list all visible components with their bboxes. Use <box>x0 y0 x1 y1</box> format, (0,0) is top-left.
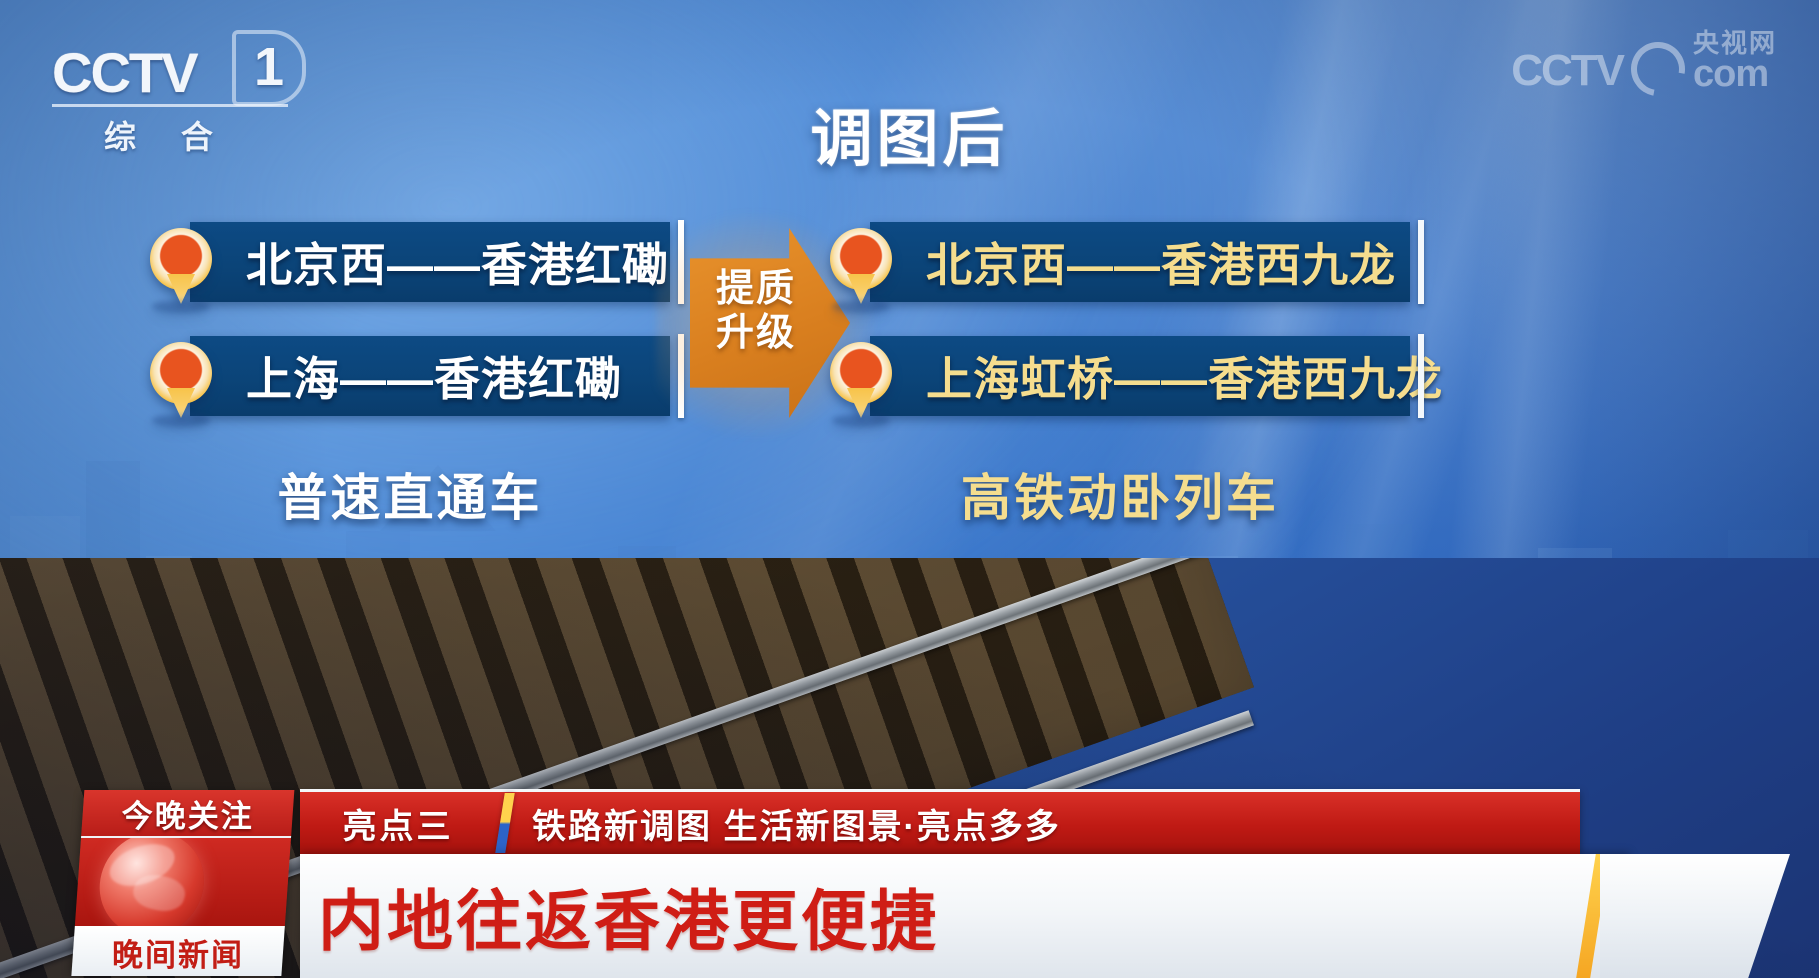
watermark-cctv-text: CCTV <box>1511 50 1623 92</box>
broadcast-screen: CCTV 1 综 合 CCTV 央视网 com 调图后 北京西——香港红磡 <box>0 0 1819 978</box>
globe-icon <box>96 838 207 926</box>
infographic-title: 调图后 <box>0 88 1819 178</box>
map-pin-icon <box>830 228 892 304</box>
program-bottom-label: 晚间新闻 <box>112 930 244 975</box>
arrow-label-line2: 升级 <box>696 312 816 356</box>
before-caption: 普速直通车 <box>150 458 670 530</box>
route-bar-end-cap <box>1418 334 1424 418</box>
before-column: 北京西——香港红磡 上海——香港红磡 普速直通车 <box>150 222 670 450</box>
map-pin-icon <box>830 342 892 418</box>
route-bar-end-cap <box>1418 220 1424 304</box>
program-logo: 今晚关注 晚间新闻 <box>72 790 295 972</box>
cctv-com-watermark: CCTV 央视网 com <box>1511 30 1777 92</box>
subtitle-text: 铁路新调图 生活新图景·亮点多多 <box>532 799 1061 848</box>
kicker-label: 亮点三 <box>300 799 496 848</box>
headline-band-tail <box>1600 854 1790 978</box>
route-label: 上海——香港红磡 <box>246 343 622 409</box>
lower-third: 今晚关注 晚间新闻 亮点三 铁路新调图 生活新图景·亮点多多 内地往返香港更便捷 <box>0 678 1819 978</box>
band-separator-icon <box>495 793 515 853</box>
map-pin-icon <box>150 342 212 418</box>
route-label: 北京西——香港西九龙 <box>926 229 1396 295</box>
route-bar: 上海——香港红磡 <box>190 336 670 416</box>
route-bar: 北京西——香港西九龙 <box>870 222 1410 302</box>
program-logo-top: 今晚关注 <box>81 790 294 838</box>
route-bar: 上海虹桥——香港西九龙 <box>870 336 1410 416</box>
route-row: 北京西——香港西九龙 <box>830 222 1410 310</box>
map-pin-icon <box>150 228 212 304</box>
headline-text: 内地往返香港更便捷 <box>318 868 939 964</box>
route-row: 上海虹桥——香港西九龙 <box>830 336 1410 424</box>
program-logo-globe-panel <box>75 838 291 926</box>
watermark-com-text: com <box>1693 56 1768 92</box>
headline-band: 内地往返香港更便捷 <box>300 854 1630 978</box>
subtitle-band: 亮点三 铁路新调图 生活新图景·亮点多多 <box>300 789 1580 854</box>
route-row: 北京西——香港红磡 <box>150 222 670 310</box>
after-column: 北京西——香港西九龙 上海虹桥——香港西九龙 高铁动卧列车 <box>830 222 1410 450</box>
arrow-label-line1: 提质 <box>696 268 816 312</box>
program-top-label: 今晚关注 <box>122 791 254 836</box>
after-caption: 高铁动卧列车 <box>830 458 1410 530</box>
route-label: 北京西——香港红磡 <box>246 229 669 295</box>
program-logo-bottom: 晚间新闻 <box>71 926 284 976</box>
route-row: 上海——香港红磡 <box>150 336 670 424</box>
route-bar: 北京西——香港红磡 <box>190 222 670 302</box>
upgrade-arrow: 提质 升级 <box>690 228 850 418</box>
route-label: 上海虹桥——香港西九龙 <box>926 343 1443 409</box>
arrow-label: 提质 升级 <box>696 268 816 355</box>
